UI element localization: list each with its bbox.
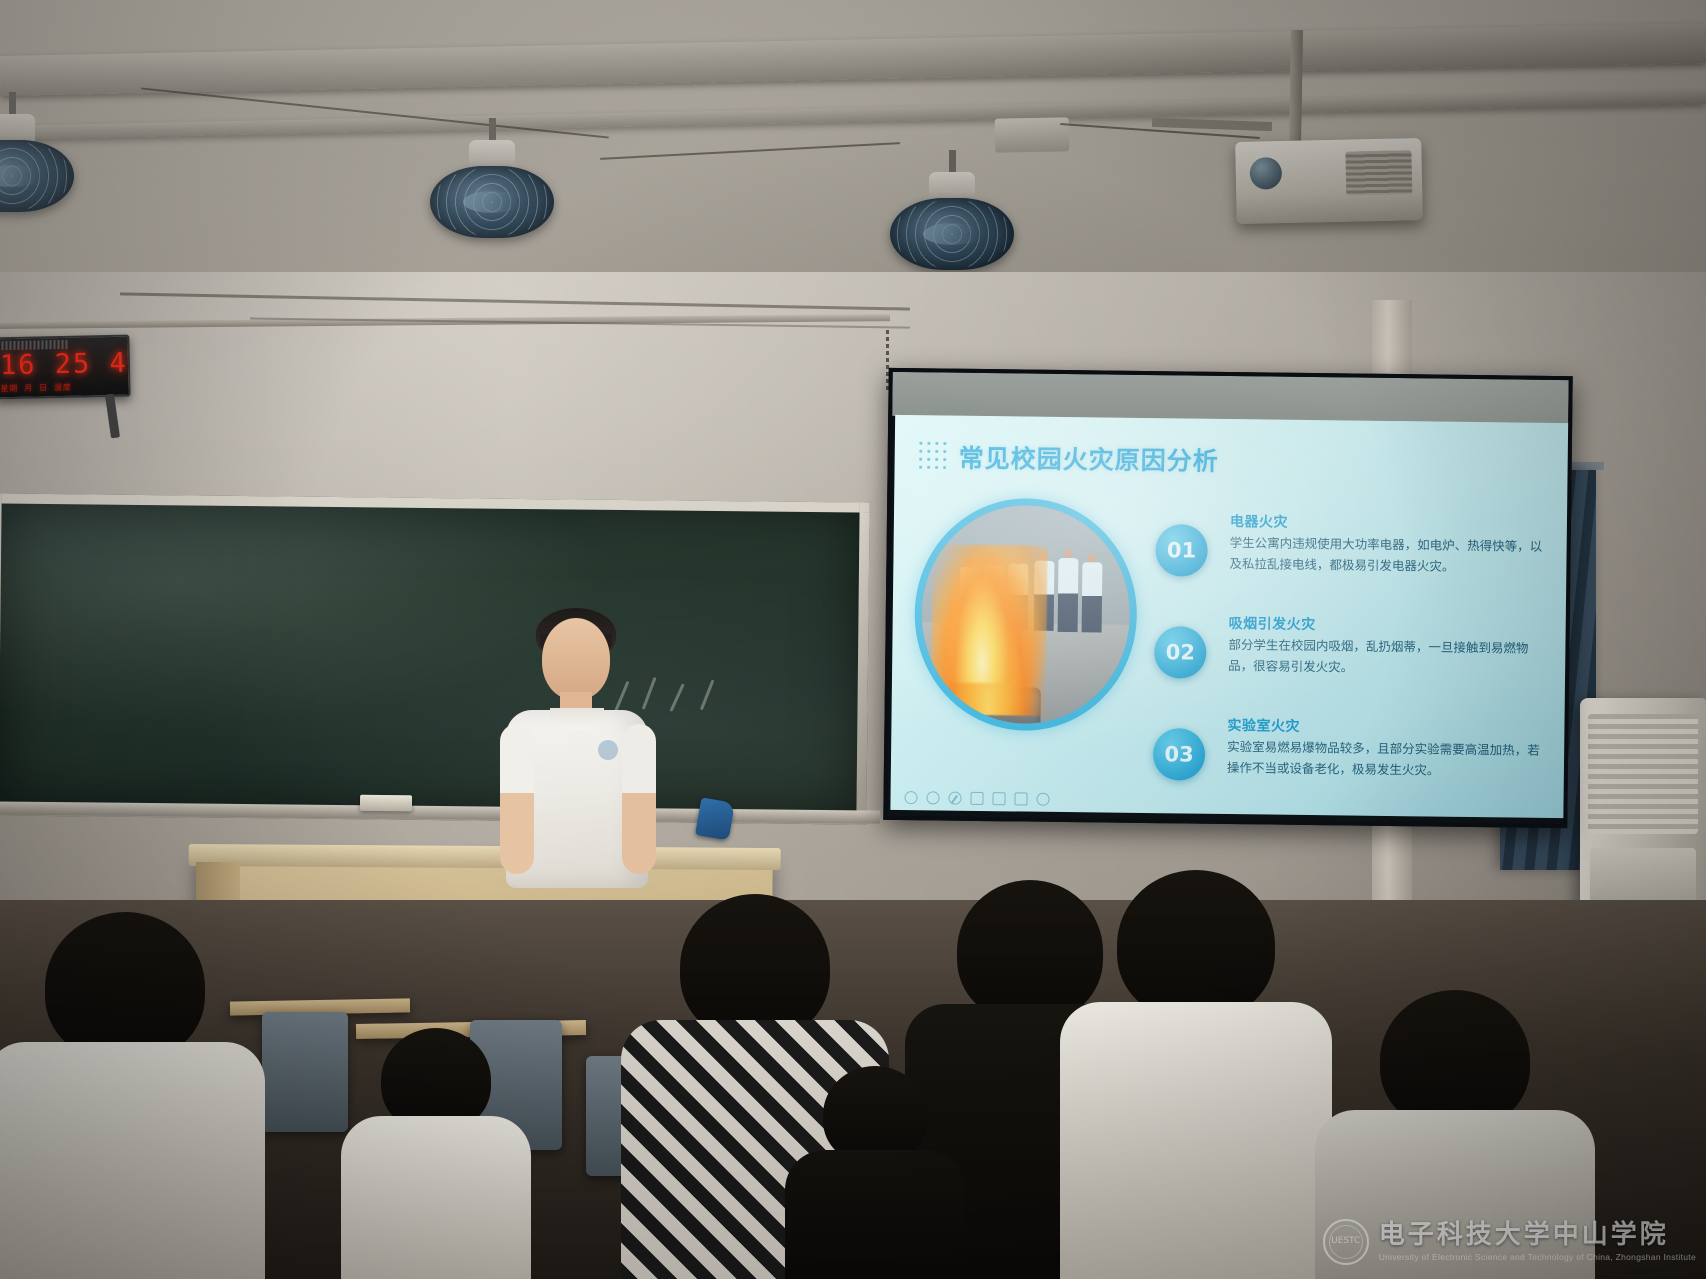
audience-member <box>0 900 250 1279</box>
led-wall-clock: 16 25 47 星期 月 日 温度 <box>0 335 131 400</box>
pen-icon[interactable] <box>948 792 961 805</box>
square-icon[interactable] <box>1014 792 1027 805</box>
green-chalkboard <box>0 493 870 824</box>
watermark-chinese: 电子科技大学中山学院 <box>1379 1222 1696 1248</box>
projector-lens <box>1249 157 1282 190</box>
bullet-heading: 吸烟引发火灾 <box>1229 613 1316 634</box>
ac-grill <box>1588 714 1698 834</box>
bullet-heading: 电器火灾 <box>1230 511 1288 532</box>
bullet-heading: 实验室火灾 <box>1227 715 1300 736</box>
ceiling-wire <box>141 87 609 138</box>
presentation-slide: 常见校园火灾原因分析 <box>890 415 1572 818</box>
air-conditioner <box>1580 698 1706 928</box>
dot-grid-decoration <box>917 439 951 473</box>
slide-toolbar[interactable] <box>904 791 1049 806</box>
ceiling-beam <box>0 23 1706 96</box>
slide-photo-circle <box>913 497 1138 732</box>
watermark-english: University of Electronic Science and Tec… <box>1379 1252 1696 1262</box>
bullet-body: 实验室易燃易爆物品较多，且部分实验需要高温加热，若操作不当或设备老化，极易发生火… <box>1227 737 1549 782</box>
clock-sub-labels: 星期 月 日 温度 <box>0 381 128 396</box>
presenter-arm-right <box>622 724 656 874</box>
bullet-number-badge: 03 <box>1153 728 1206 781</box>
ceiling-junction-box <box>995 117 1070 152</box>
audience-member <box>1086 862 1306 1279</box>
audience-member <box>356 1020 516 1279</box>
blue-cloth <box>695 797 735 840</box>
dot-icon[interactable] <box>1036 793 1049 806</box>
student-presenter <box>498 608 658 888</box>
bullet-number-badge: 02 <box>1154 626 1207 679</box>
circle-outline-icon[interactable] <box>926 791 939 804</box>
shirt-logo <box>598 740 618 760</box>
university-seal-icon: UESTC <box>1323 1219 1369 1265</box>
projector-mount-arm <box>1289 30 1303 145</box>
frame-icon[interactable] <box>992 792 1005 805</box>
presenter-arm-left <box>500 724 534 874</box>
watermark-text: 电子科技大学中山学院 University of Electronic Scie… <box>1379 1222 1696 1262</box>
board-eraser <box>360 795 412 812</box>
presenter-collar <box>550 708 604 730</box>
flame-core <box>947 553 1019 684</box>
ceiling <box>0 0 1706 300</box>
slide-bullet-item: 02 吸烟引发火灾 部分学生在校园内吸烟，乱扔烟蒂，一旦接触到易燃物品，很容易引… <box>1154 612 1559 703</box>
projector-vent <box>1345 150 1412 195</box>
watermark: UESTC 电子科技大学中山学院 University of Electroni… <box>1323 1219 1696 1265</box>
projector-mount-bracket <box>1152 118 1272 131</box>
ceiling-wire <box>600 142 900 160</box>
bracket-icon[interactable] <box>970 792 983 805</box>
ceiling-wire <box>1060 123 1260 139</box>
classroom-photo: 16 25 47 星期 月 日 温度 常见校园火灾原因分析 <box>0 0 1706 1279</box>
circle-icon[interactable] <box>904 791 917 804</box>
classroom-chair <box>262 1012 348 1132</box>
ceiling-beam-secondary <box>0 90 1706 140</box>
slide-bullet-item: 03 实验室火灾 实验室易燃易爆物品较多，且部分实验需要高温加热，若操作不当或设… <box>1153 714 1558 805</box>
bullet-body: 学生公寓内违规使用大功率电器，如电炉、热得快等，以及私拉乱接电线，都极易引发电器… <box>1229 533 1551 578</box>
audience-member <box>800 1060 950 1279</box>
projection-screen: 常见校园火灾原因分析 <box>883 368 1572 828</box>
bullet-body: 部分学生在校园内吸烟，乱扔烟蒂，一旦接触到易燃物品，很容易引发火灾。 <box>1228 635 1550 680</box>
presenter-head <box>542 618 610 700</box>
clock-time: 16 25 47 <box>0 349 128 382</box>
ceiling-projector <box>1235 138 1423 224</box>
slide-bullet-item: 01 电器火灾 学生公寓内违规使用大功率电器，如电炉、热得快等，以及私拉乱接电线… <box>1155 510 1560 601</box>
slide-bullet-list: 01 电器火灾 学生公寓内违规使用大功率电器，如电炉、热得快等，以及私拉乱接电线… <box>1152 510 1560 818</box>
bullet-number-badge: 01 <box>1155 524 1208 577</box>
slide-title: 常见校园火灾原因分析 <box>958 439 1218 478</box>
